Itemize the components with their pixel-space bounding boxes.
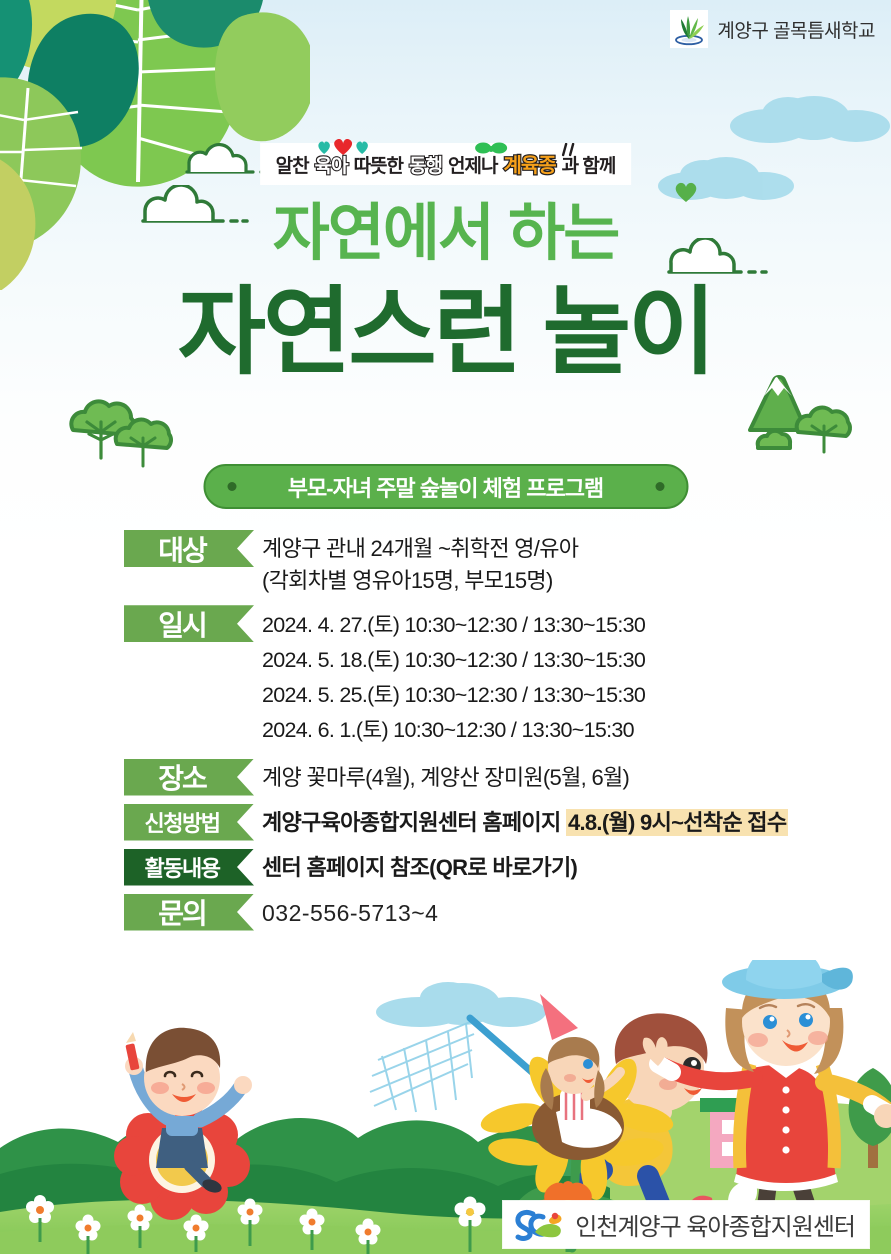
place-line-1: 계양 꽃마루(4월), 계양산 장미원(5월, 6월): [262, 762, 629, 794]
ribbon-label-activity: 활동내용: [124, 849, 254, 886]
page-title-line1: 자연에서 하는: [0, 203, 891, 265]
header-org-logo: 계양구 골목틈새학교: [670, 10, 875, 48]
ribbon-label-place: 장소: [124, 759, 254, 796]
tagline-strip: 알찬 육아 따뜻한 동행 언제나 계육종 과 함께: [260, 143, 632, 185]
application-highlight: 4.8.(월) 9시~선착순 접수: [566, 809, 788, 836]
subtitle-pill: 부모-자녀 주말 숲놀이 체험 프로그램: [203, 464, 688, 509]
footer-center-logo: 인천계양구 육아종합지원센터: [503, 1201, 869, 1248]
sparkle-lines-icon: [560, 143, 578, 162]
ribbon-label-schedule: 일시: [124, 605, 254, 642]
ribbon-label-inquiry: 문의: [124, 894, 254, 931]
info-section: 대상 계양구 관내 24개월 ~취학전 영/유아 (각회차별 영유아15명, 부…: [124, 530, 851, 933]
info-value-place: 계양 꽃마루(4월), 계양산 장미원(5월, 6월): [262, 759, 629, 794]
schedule-line-3: 2024. 5. 25.(토) 10:30~12:30 / 13:30~15:3…: [262, 678, 645, 713]
tree-icon: [55, 388, 185, 468]
info-value-application: 계양구육아종합지원센터 홈페이지 4.8.(월) 9시~선착순 접수: [262, 804, 788, 839]
target-line-1: 계양구 관내 24개월 ~취학전 영/유아: [262, 533, 578, 565]
info-row-place: 장소 계양 꽃마루(4월), 계양산 장미원(5월, 6월): [124, 759, 851, 796]
page-title-line2: 자연스런 놀이: [0, 285, 891, 381]
inquiry-phone: 032-556-5713~4: [262, 897, 438, 931]
small-hearts-icon: [316, 139, 370, 162]
info-value-target: 계양구 관내 24개월 ~취학전 영/유아 (각회차별 영유아15명, 부모15…: [262, 530, 578, 597]
schedule-line-4: 2024. 6. 1.(토) 10:30~12:30 / 13:30~15:30: [262, 713, 645, 748]
green-heart-icon: [674, 181, 696, 201]
blue-cloud-icon: [718, 92, 891, 144]
info-value-activity: 센터 홈페이지 참조(QR로 바로가기): [262, 849, 577, 884]
info-value-inquiry: 032-556-5713~4: [262, 894, 438, 931]
ribbon-label-application: 신청방법: [124, 804, 254, 841]
footer-center-name: 인천계양구 육아종합지원센터: [575, 1207, 855, 1242]
pill-dot-left: [227, 482, 236, 491]
org-name-label: 계양구 골목틈새학교: [717, 16, 875, 43]
green-fan-leaf-icon: [670, 10, 708, 48]
blue-cloud-icon: [376, 982, 546, 1027]
info-row-target: 대상 계양구 관내 24개월 ~취학전 영/유아 (각회차별 영유아15명, 부…: [124, 530, 851, 597]
poster-root: 계양구 골목틈새학교: [0, 0, 891, 1260]
info-row-application: 신청방법 계양구육아종합지원센터 홈페이지 4.8.(월) 9시~선착순 접수: [124, 804, 851, 841]
ribbon-label-target: 대상: [124, 530, 254, 567]
tagline-part6: 계육종: [503, 149, 555, 178]
tagline-part4: 동행: [409, 151, 442, 178]
schedule-line-2: 2024. 5. 18.(토) 10:30~12:30 / 13:30~15:3…: [262, 643, 645, 678]
schedule-line-1: 2024. 4. 27.(토) 10:30~12:30 / 13:30~15:3…: [262, 608, 645, 643]
activity-line-1: 센터 홈페이지 참조(QR로 바로가기): [262, 852, 577, 884]
sc-swirl-logo-icon: [513, 1208, 565, 1242]
blue-hat-icon: [722, 960, 853, 999]
propeller-icon: [474, 141, 508, 162]
target-line-2: (각회차별 영유아15명, 부모15명): [262, 565, 578, 597]
info-value-schedule: 2024. 4. 27.(토) 10:30~12:30 / 13:30~15:3…: [262, 605, 645, 747]
pill-dot-right: [655, 482, 664, 491]
subtitle-text: 부모-자녀 주말 숲놀이 체험 프로그램: [288, 471, 603, 503]
application-plain: 계양구육아종합지원센터 홈페이지: [262, 810, 566, 835]
tagline-part1: 알찬: [276, 151, 309, 178]
info-row-inquiry: 문의 032-556-5713~4: [124, 894, 851, 931]
info-row-schedule: 일시 2024. 4. 27.(토) 10:30~12:30 / 13:30~1…: [124, 605, 851, 747]
info-row-activity: 활동내용 센터 홈페이지 참조(QR로 바로가기): [124, 849, 851, 886]
mountain-icon: [740, 370, 860, 460]
